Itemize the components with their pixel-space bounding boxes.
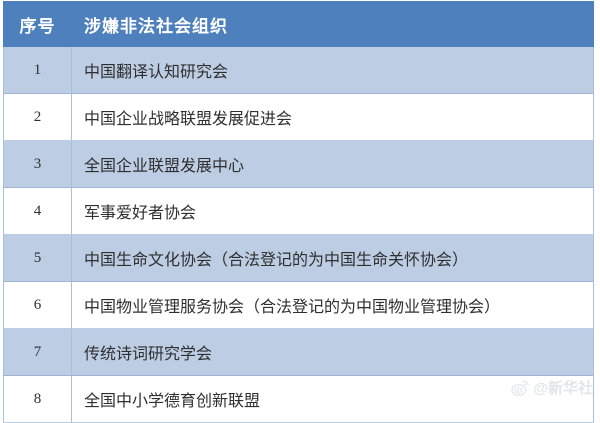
column-header-organization-name: 涉嫌非法社会组织	[72, 2, 594, 47]
table-row: 5 中国生命文化协会（合法登记的为中国生命关怀协会）	[4, 235, 594, 282]
cell-organization-name: 全国中小学德育创新联盟	[72, 376, 594, 423]
cell-organization-name: 中国生命文化协会（合法登记的为中国生命关怀协会）	[72, 235, 594, 282]
cell-index: 6	[4, 282, 72, 329]
table-head: 序号 涉嫌非法社会组织	[4, 2, 594, 47]
cell-index: 7	[4, 329, 72, 376]
table-row: 1 中国翻译认知研究会	[4, 47, 594, 94]
page-root: 序号 涉嫌非法社会组织 1 中国翻译认知研究会 2 中国企业战略联盟发展促进会 …	[0, 0, 600, 405]
cell-index: 3	[4, 141, 72, 188]
cell-index: 8	[4, 376, 72, 423]
cell-organization-name: 全国企业联盟发展中心	[72, 141, 594, 188]
table-row: 4 军事爱好者协会	[4, 188, 594, 235]
table-row: 3 全国企业联盟发展中心	[4, 141, 594, 188]
table-row: 7 传统诗词研究学会	[4, 329, 594, 376]
illegal-organizations-table: 序号 涉嫌非法社会组织 1 中国翻译认知研究会 2 中国企业战略联盟发展促进会 …	[3, 1, 594, 423]
table-row: 6 中国物业管理服务协会（合法登记的为中国物业管理协会）	[4, 282, 594, 329]
table-row: 8 全国中小学德育创新联盟	[4, 376, 594, 423]
cell-index: 2	[4, 94, 72, 141]
table-body: 1 中国翻译认知研究会 2 中国企业战略联盟发展促进会 3 全国企业联盟发展中心…	[4, 47, 594, 423]
cell-index: 5	[4, 235, 72, 282]
table-header-row: 序号 涉嫌非法社会组织	[4, 2, 594, 47]
cell-organization-name: 中国物业管理服务协会（合法登记的为中国物业管理协会）	[72, 282, 594, 329]
cell-index: 1	[4, 47, 72, 94]
column-header-index: 序号	[4, 2, 72, 47]
table-container: 序号 涉嫌非法社会组织 1 中国翻译认知研究会 2 中国企业战略联盟发展促进会 …	[3, 1, 593, 398]
cell-organization-name: 传统诗词研究学会	[72, 329, 594, 376]
cell-organization-name: 中国翻译认知研究会	[72, 47, 594, 94]
table-row: 2 中国企业战略联盟发展促进会	[4, 94, 594, 141]
cell-organization-name: 军事爱好者协会	[72, 188, 594, 235]
cell-organization-name: 中国企业战略联盟发展促进会	[72, 94, 594, 141]
cell-index: 4	[4, 188, 72, 235]
